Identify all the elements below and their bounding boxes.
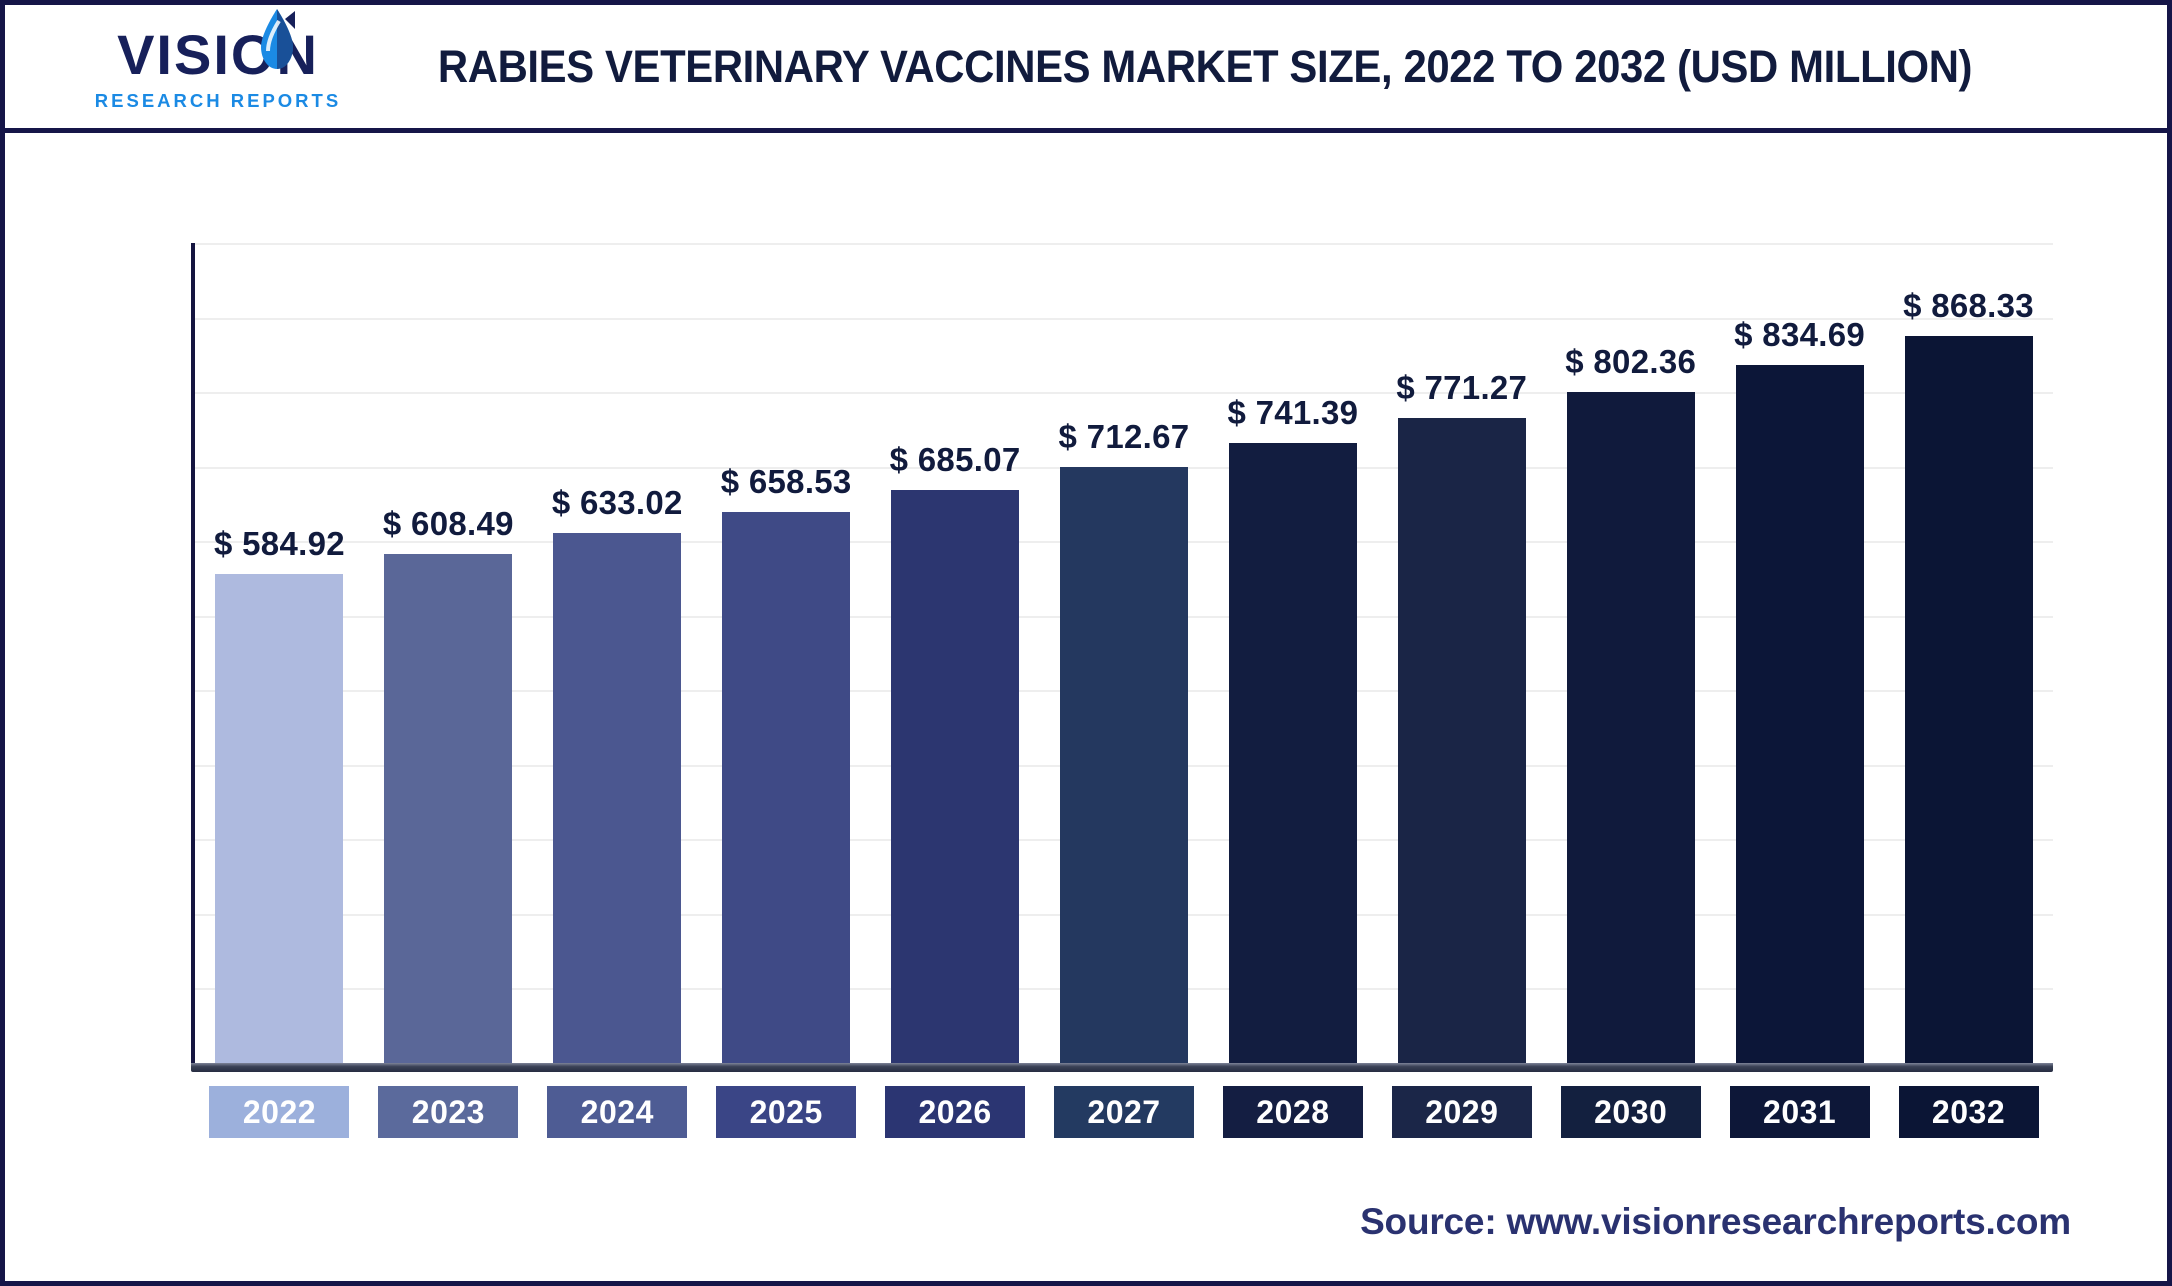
bar-series: $ 584.92$ 608.49$ 633.02$ 658.53$ 685.07… <box>195 243 2053 1063</box>
bar <box>722 512 850 1063</box>
year-chip-2031[interactable]: 2031 <box>1730 1086 1870 1138</box>
bar-value-label: $ 584.92 <box>214 525 345 563</box>
bar-value-label: $ 834.69 <box>1734 316 1865 354</box>
year-chip-2032[interactable]: 2032 <box>1899 1086 2039 1138</box>
page-title: RABIES VETERINARY VACCINES MARKET SIZE, … <box>396 5 2014 128</box>
bar <box>1060 467 1188 1063</box>
year-slot: 2032 <box>1884 1086 2053 1138</box>
bar-value-label: $ 685.07 <box>890 441 1021 479</box>
bar <box>553 533 681 1063</box>
x-axis-line <box>191 1063 2053 1072</box>
year-slot: 2030 <box>1546 1086 1715 1138</box>
bar-group: $ 741.39 <box>1208 243 1377 1063</box>
year-chip-2028[interactable]: 2028 <box>1223 1086 1363 1138</box>
plot-area: $ 584.92$ 608.49$ 633.02$ 658.53$ 685.07… <box>191 243 2053 1063</box>
source-attribution: Source: www.visionresearchreports.com <box>1360 1201 2071 1243</box>
year-chip-2029[interactable]: 2029 <box>1392 1086 1532 1138</box>
bar-group: $ 633.02 <box>533 243 702 1063</box>
year-slot: 2024 <box>533 1086 702 1138</box>
bar-value-label: $ 658.53 <box>721 463 852 501</box>
year-slot: 2025 <box>702 1086 871 1138</box>
year-chip-2025[interactable]: 2025 <box>716 1086 856 1138</box>
bar-group: $ 802.36 <box>1546 243 1715 1063</box>
bar <box>1567 392 1695 1063</box>
bar-value-label: $ 741.39 <box>1227 394 1358 432</box>
year-chip-2026[interactable]: 2026 <box>885 1086 1025 1138</box>
year-chip-2023[interactable]: 2023 <box>378 1086 518 1138</box>
bar <box>891 490 1019 1063</box>
bar <box>1736 365 1864 1063</box>
x-axis-category-chips: 2022202320242025202620272028202920302031… <box>195 1085 2053 1139</box>
year-slot: 2022 <box>195 1086 364 1138</box>
bar-group: $ 834.69 <box>1715 243 1884 1063</box>
bar-group: $ 868.33 <box>1884 243 2053 1063</box>
year-chip-2024[interactable]: 2024 <box>547 1086 687 1138</box>
year-slot: 2026 <box>871 1086 1040 1138</box>
year-chip-2027[interactable]: 2027 <box>1054 1086 1194 1138</box>
bar-value-label: $ 712.67 <box>1059 418 1190 456</box>
bar-value-label: $ 868.33 <box>1903 287 2034 325</box>
brand-tagline: RESEARCH REPORTS <box>95 90 341 112</box>
bar <box>1229 443 1357 1063</box>
year-chip-2022[interactable]: 2022 <box>209 1086 349 1138</box>
bar <box>1905 336 2033 1063</box>
brand-name-wrap: VISION <box>117 27 319 83</box>
bar-value-label: $ 771.27 <box>1396 369 1527 407</box>
bar <box>215 574 343 1063</box>
year-slot: 2029 <box>1377 1086 1546 1138</box>
bar-value-label: $ 633.02 <box>552 484 683 522</box>
chart-header: VISION RESEARCH REPORTS RABIES VETERINAR… <box>5 5 2167 133</box>
bar-group: $ 584.92 <box>195 243 364 1063</box>
year-slot: 2023 <box>364 1086 533 1138</box>
bar-group: $ 658.53 <box>702 243 871 1063</box>
bar-group: $ 771.27 <box>1377 243 1546 1063</box>
bar-value-label: $ 802.36 <box>1565 343 1696 381</box>
year-slot: 2027 <box>1040 1086 1209 1138</box>
year-slot: 2031 <box>1715 1086 1884 1138</box>
bar <box>384 554 512 1063</box>
bar-group: $ 608.49 <box>364 243 533 1063</box>
chart-page: VISION RESEARCH REPORTS RABIES VETERINAR… <box>0 0 2172 1286</box>
water-drop-arrow-icon <box>255 7 299 73</box>
year-slot: 2028 <box>1208 1086 1377 1138</box>
bar <box>1398 418 1526 1063</box>
brand-logo: VISION RESEARCH REPORTS <box>93 15 343 123</box>
year-chip-2030[interactable]: 2030 <box>1561 1086 1701 1138</box>
bar-value-label: $ 608.49 <box>383 505 514 543</box>
bar-group: $ 685.07 <box>871 243 1040 1063</box>
bar-group: $ 712.67 <box>1040 243 1209 1063</box>
